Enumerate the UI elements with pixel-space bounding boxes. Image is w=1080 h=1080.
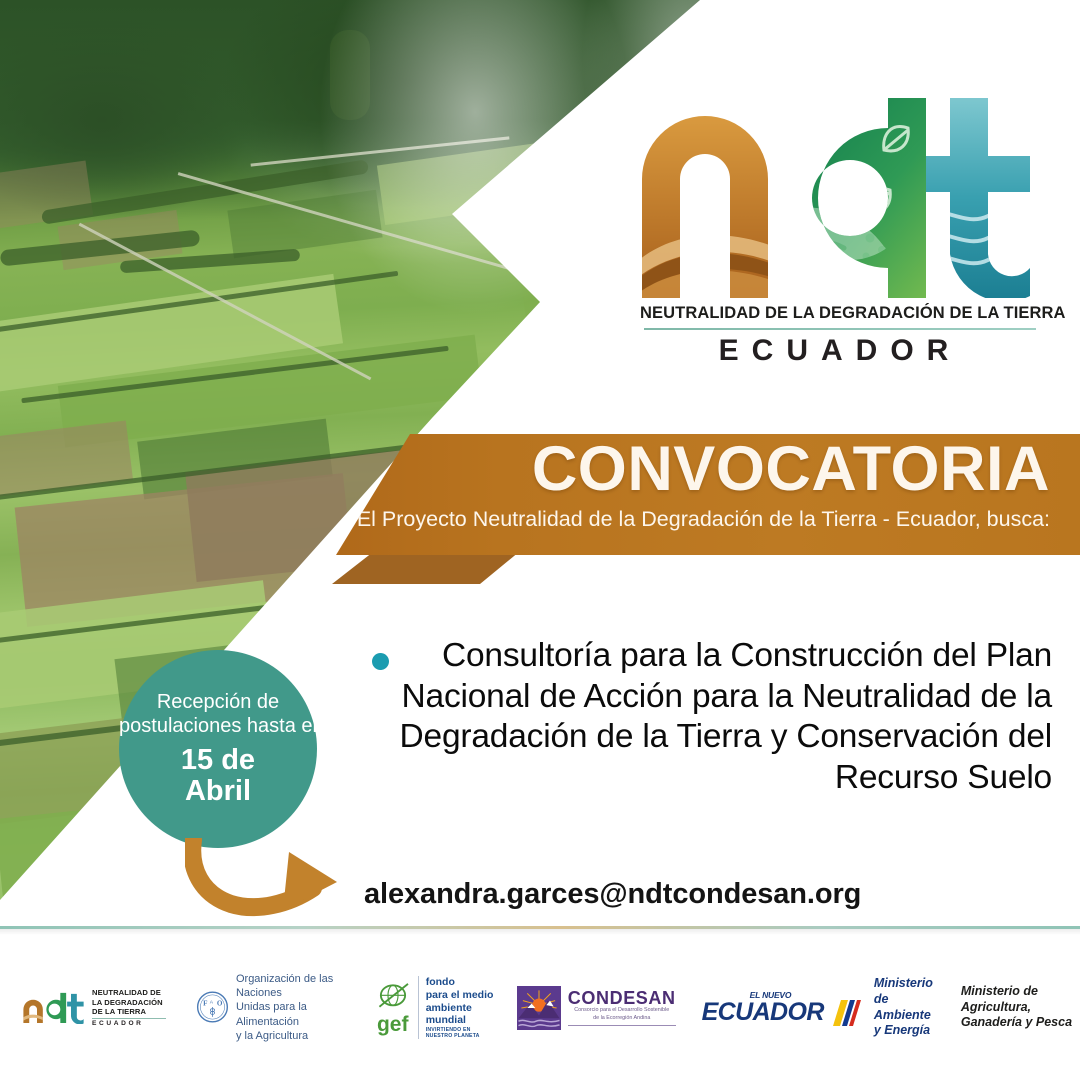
consultancy-item-text: Consultoría para la Construcción del Pla…: [372, 636, 1052, 799]
poster-canvas: NEUTRALIDAD DE LA DEGRADACIÓN DE LA TIER…: [0, 0, 1080, 1080]
footer-condesan-rule: [568, 1025, 676, 1026]
ecuador-flag-icon: [827, 1000, 861, 1026]
ndt-logo-mark: [640, 98, 1040, 298]
banner-subtitle: El Proyecto Neutralidad de la Degradació…: [336, 507, 1050, 532]
footer-logo-condesan: CONDESAN Consorcio para el Desarrollo So…: [517, 986, 676, 1030]
ndt-letter-d-icon: [778, 98, 946, 298]
footer-condesan-name: CONDESAN: [568, 989, 676, 1007]
fao-emblem-icon: F O A: [196, 986, 229, 1028]
footer-fao-text: Organización de las Naciones Unidas para…: [236, 972, 351, 1043]
banner-title: CONVOCATORIA: [336, 437, 1050, 501]
footer-gef-line1: fondo: [426, 976, 495, 989]
footer-fao-line2: Unidas para la Alimentación: [236, 1000, 351, 1029]
bullet-dot-icon: [372, 653, 389, 670]
ndt-logo-rule: [644, 328, 1036, 330]
ndt-logo: NEUTRALIDAD DE LA DEGRADACIÓN DE LA TIER…: [640, 98, 1040, 378]
footer-ministerio-ambiente-line2: Ambiente y Energía: [874, 1008, 933, 1039]
footer-ndt-country: ECUADOR: [92, 1020, 166, 1027]
ndt-letter-n-icon: [642, 116, 772, 298]
contact-email[interactable]: alexandra.garces@ndtcondesan.org: [364, 878, 861, 911]
footer-fao-line1: Organización de las Naciones: [236, 972, 351, 1001]
footer-fao-line3: y la Agricultura: [236, 1029, 351, 1043]
footer-logo-magap: Ministerio de Agricultura, Ganadería y P…: [961, 984, 1080, 1031]
deadline-line2: postulaciones hasta el: [119, 714, 317, 738]
svg-text:O: O: [217, 1000, 223, 1008]
deadline-badge: Recepción de postulaciones hasta el 15 d…: [119, 650, 317, 848]
footer-logo-strip: NEUTRALIDAD DE LA DEGRADACIÓN DE LA TIER…: [0, 935, 1080, 1080]
footer-ndt-text: NEUTRALIDAD DE LA DEGRADACIÓN DE LA TIER…: [92, 988, 166, 1026]
ndt-logo-subtitle: NEUTRALIDAD DE LA DEGRADACIÓN DE LA TIER…: [640, 304, 1040, 323]
footer-ndt-line3: DE LA TIERRA: [92, 1007, 166, 1016]
curved-arrow-right-icon: [185, 838, 355, 918]
footer-ndt-line1: NEUTRALIDAD DE: [92, 988, 166, 997]
deadline-day: 15 de: [181, 745, 255, 777]
footer-magap-line1: Ministerio de Agricultura,: [961, 984, 1080, 1015]
footer-gef-line2: para el medio: [426, 989, 495, 1002]
ecuador-wordmark-block: EL NUEVO ECUADOR: [702, 990, 861, 1026]
footer-ndt-rule: [92, 1018, 166, 1019]
deadline-line1: Recepción de: [157, 690, 279, 714]
footer-logo-fao: F O A Organización de las Naciones Unida…: [196, 972, 351, 1043]
svg-text:A: A: [210, 1000, 214, 1006]
footer-logo-ecuador-gob: EL NUEVO ECUADOR Ministerio de Ambiente …: [702, 976, 933, 1039]
footer-magap-line2: Ganadería y Pesca: [961, 1015, 1080, 1031]
consultancy-item: Consultoría para la Construcción del Pla…: [372, 636, 1052, 799]
footer-logo-ndt: NEUTRALIDAD DE LA DEGRADACIÓN DE LA TIER…: [22, 988, 166, 1026]
footer-ecuador-wordmark: ECUADOR: [702, 1001, 824, 1025]
footer-ministerio-ambiente-line1: Ministerio de: [874, 976, 933, 1007]
gef-wordmark: gef: [375, 1016, 411, 1035]
condesan-emblem-icon: [517, 986, 561, 1030]
gef-text: fondo para el medio ambiente mundial INV…: [418, 976, 495, 1039]
treeline: [330, 30, 370, 120]
gef-globe-icon: [375, 981, 411, 1011]
footer-condesan-sub2: de la Ecorregión Andina: [568, 1015, 676, 1022]
footer-ndt-line2: LA DEGRADACIÓN: [92, 998, 166, 1007]
convocatoria-banner: CONVOCATORIA El Proyecto Neutralidad de …: [336, 434, 1080, 555]
ndt-logo-country: ECUADOR: [640, 334, 1040, 368]
ndt-mini-mark-icon: [22, 990, 86, 1024]
svg-text:F: F: [203, 1000, 208, 1008]
footer-gef-line3: ambiente mundial: [426, 1002, 495, 1028]
footer-condesan-sub1: Consorcio para el Desarrollo Sostenible: [568, 1007, 676, 1014]
footer-ministerio-ambiente: Ministerio de Ambiente y Energía: [874, 976, 933, 1039]
condesan-text: CONDESAN Consorcio para el Desarrollo So…: [568, 989, 676, 1025]
gef-mark: gef: [375, 981, 411, 1035]
footer-gef-line4: INVIRTIENDO EN NUESTRO PLANETA: [426, 1027, 495, 1039]
footer-logo-gef: gef fondo para el medio ambiente mundial…: [375, 976, 495, 1039]
deadline-month: Abril: [185, 776, 251, 808]
ndt-letter-t-icon: [926, 96, 1042, 298]
